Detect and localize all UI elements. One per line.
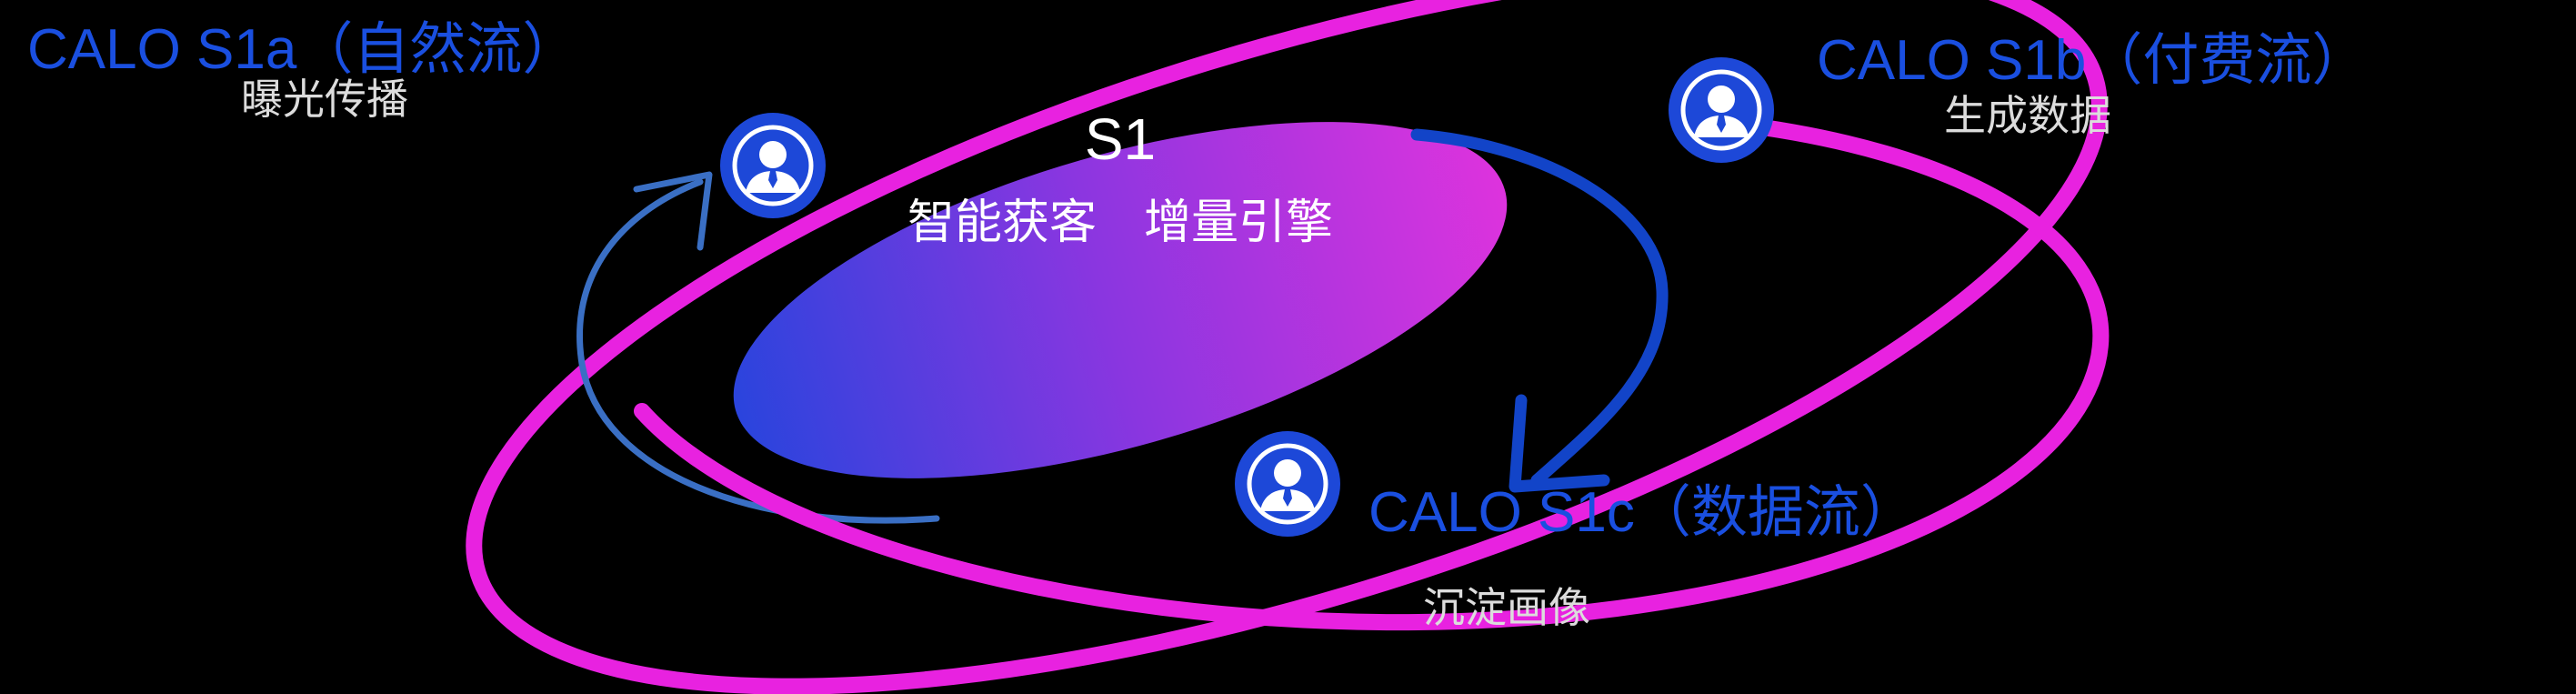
label-s1a-title: CALO S1a（自然流）	[27, 22, 578, 78]
label-s1a-subtitle: 曝光传播	[241, 78, 408, 120]
node-s1b[interactable]	[1669, 57, 1774, 163]
label-s1c-title: CALO S1c（数据流）	[1368, 485, 1917, 541]
label-s1b-subtitle: 生成数据	[1944, 95, 2111, 136]
node-s1a[interactable]	[720, 113, 826, 218]
diagram-canvas: S1 智能获客 增量引擎 CALO S1a（自然流） 曝光传播 CALO S1b…	[0, 0, 2576, 694]
label-s1c-subtitle: 沉淀画像	[1423, 587, 1590, 629]
label-s1b-title: CALO S1b（付费流）	[1817, 33, 2368, 89]
node-s1c[interactable]	[1235, 431, 1340, 537]
core-title: S1	[1085, 106, 1156, 172]
core-subtitle: 智能获客 增量引擎	[907, 196, 1333, 249]
